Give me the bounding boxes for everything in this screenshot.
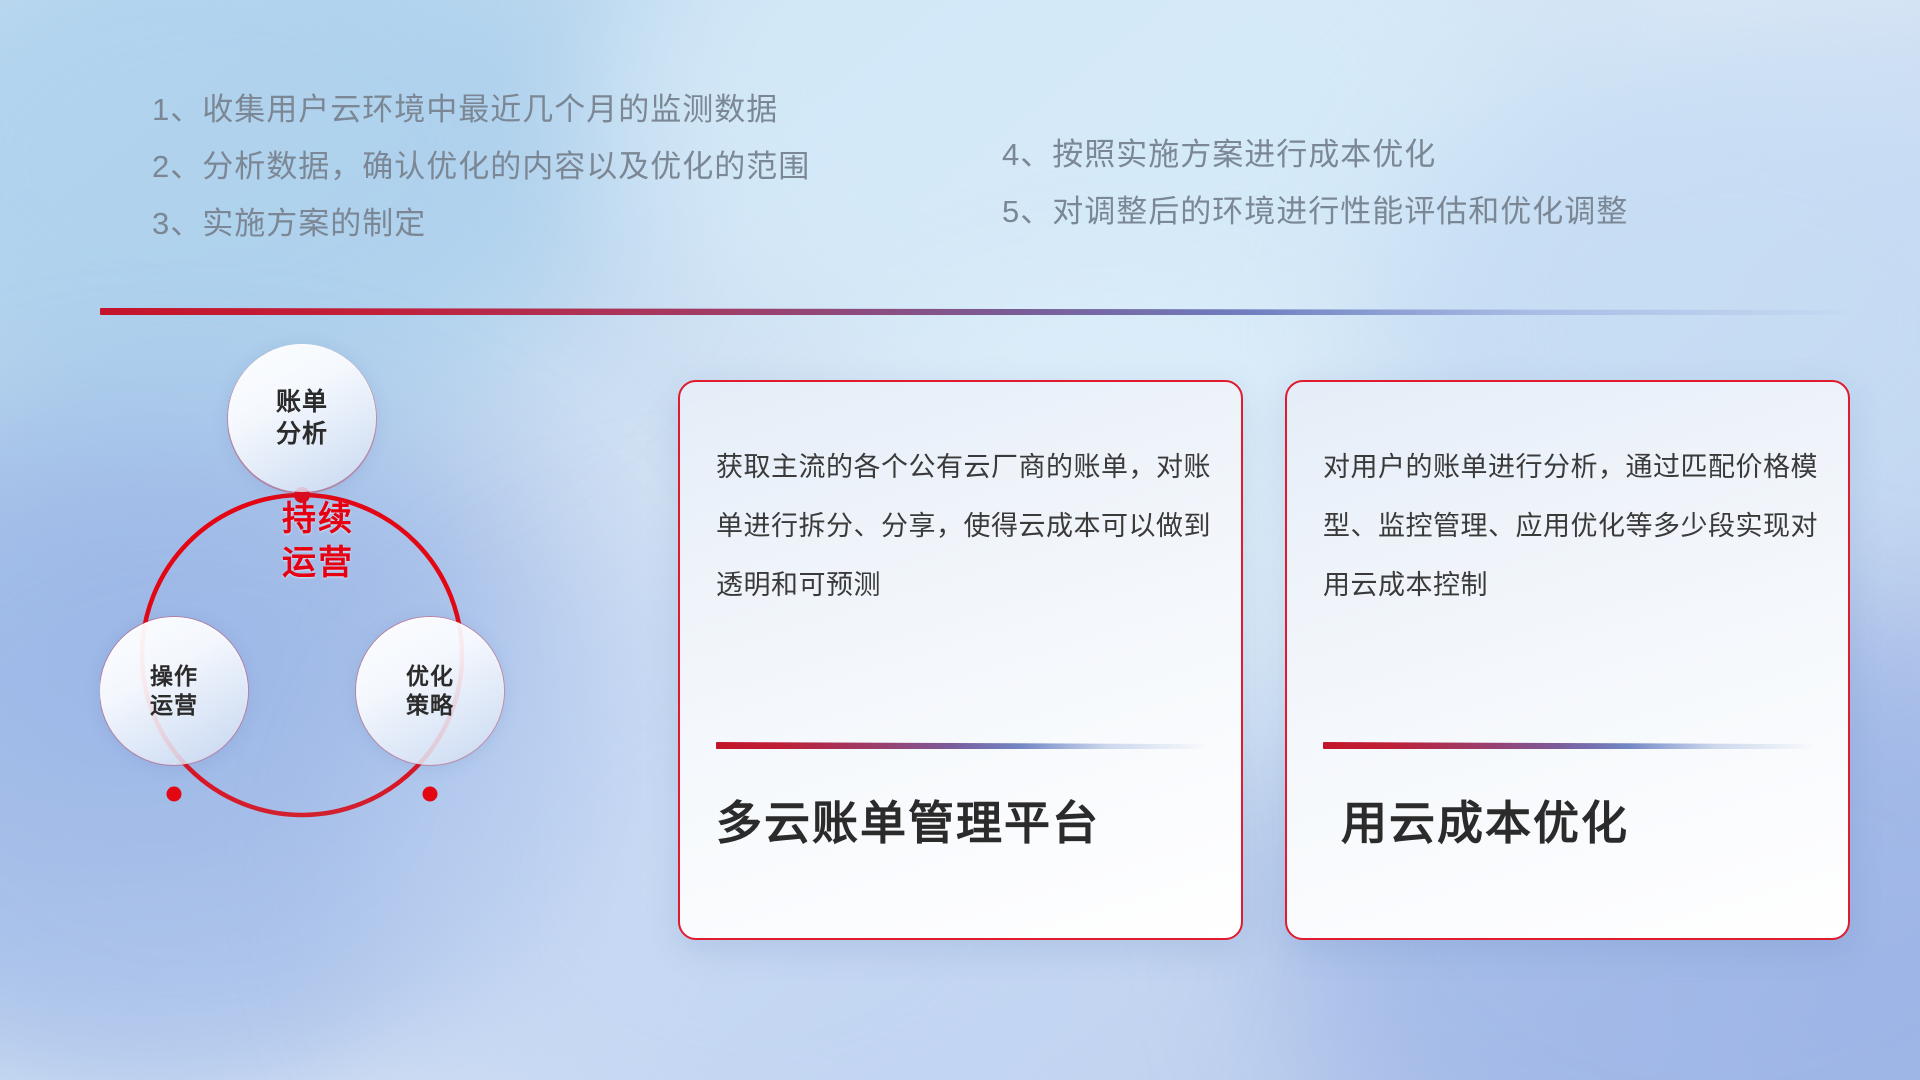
continuous-operation-diagram: 账单 分析 操作 运营 优化 策略 持续 运营: [100, 345, 580, 945]
card-divider: [1323, 742, 1813, 749]
step-item-5: 5、对调整后的环境进行性能评估和优化调整: [1002, 196, 1628, 227]
card-title: 多云账单管理平台: [716, 787, 1217, 853]
center-label-line1: 持续: [238, 497, 398, 541]
step-item-3: 3、实施方案的制定: [152, 208, 810, 239]
card-title: 用云成本优化: [1341, 787, 1824, 853]
card-body-text: 对用户的账单进行分析，通过匹配价格模型、监控管理、应用优化等多少段实现对用云成本…: [1323, 438, 1818, 615]
bubble-label-line2: 分析: [276, 418, 328, 450]
bubble-label-line1: 操作: [150, 662, 198, 691]
section-divider: [100, 308, 1845, 315]
card-multi-cloud-billing-platform[interactable]: 获取主流的各个公有云厂商的账单，对账单进行拆分、分享，使得云成本可以做到透明和可…: [678, 380, 1243, 940]
step-item-4: 4、按照实施方案进行成本优化: [1002, 139, 1628, 170]
bubble-label-line1: 账单: [276, 386, 328, 418]
node-dot-bottom-right: [423, 787, 438, 802]
center-label-line2: 运营: [238, 541, 398, 585]
bubble-label-line2: 运营: [150, 691, 198, 720]
bubble-label-line2: 策略: [406, 691, 454, 720]
node-dot-bottom-left: [167, 787, 182, 802]
diagram-center-label: 持续 运营: [238, 497, 398, 585]
slide-canvas: 1、收集用户云环境中最近几个月的监测数据 2、分析数据，确认优化的内容以及优化的…: [0, 0, 1920, 1080]
bubble-billing-analysis[interactable]: 账单 分析: [228, 344, 376, 492]
card-body-text: 获取主流的各个公有云厂商的账单，对账单进行拆分、分享，使得云成本可以做到透明和可…: [716, 438, 1211, 615]
bubble-label-line1: 优化: [406, 662, 454, 691]
card-divider: [716, 742, 1206, 749]
card-cloud-cost-optimization[interactable]: 对用户的账单进行分析，通过匹配价格模型、监控管理、应用优化等多少段实现对用云成本…: [1285, 380, 1850, 940]
step-item-1: 1、收集用户云环境中最近几个月的监测数据: [152, 94, 810, 125]
bubble-optimization-strategy[interactable]: 优化 策略: [356, 617, 504, 765]
step-item-2: 2、分析数据，确认优化的内容以及优化的范围: [152, 151, 810, 182]
bubble-operations[interactable]: 操作 运营: [100, 617, 248, 765]
steps-column-left: 1、收集用户云环境中最近几个月的监测数据 2、分析数据，确认优化的内容以及优化的…: [152, 94, 810, 265]
steps-column-right: 4、按照实施方案进行成本优化 5、对调整后的环境进行性能评估和优化调整: [1002, 139, 1628, 253]
